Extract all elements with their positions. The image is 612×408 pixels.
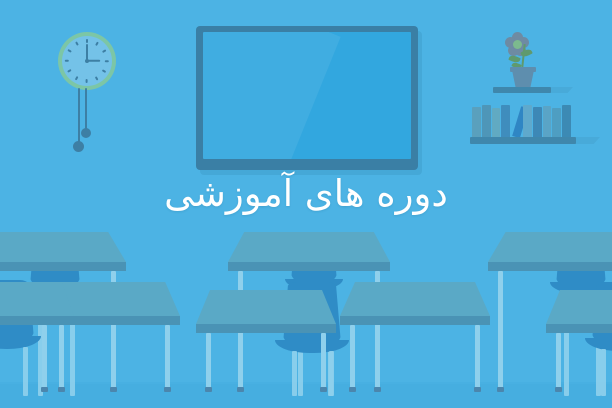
desk-leg-foot [110, 387, 117, 392]
pendulum-rod-a [85, 88, 87, 130]
desk-top [228, 232, 390, 262]
desk-top [546, 290, 612, 324]
floor [0, 384, 612, 408]
pendulum-rod-b [78, 88, 80, 144]
desk-leg-foot [555, 387, 562, 392]
desk-leg [556, 333, 561, 392]
pendulum-bob-a [81, 128, 91, 138]
desk-top [0, 282, 74, 316]
chair-leg [23, 347, 28, 396]
book [533, 107, 542, 137]
desk-leg-foot [41, 387, 48, 392]
book-row [470, 104, 576, 137]
book [552, 108, 561, 137]
desk-leg-foot [237, 387, 244, 392]
desk-top [488, 232, 612, 262]
desk-edge [228, 262, 390, 271]
desk-edge [488, 262, 612, 271]
desk-top [0, 232, 126, 262]
book [472, 107, 481, 137]
desk-leg [498, 271, 503, 392]
clock-face [62, 36, 112, 86]
classroom-scene: دوره های آموزشی [0, 0, 612, 408]
chair-leg [292, 351, 297, 396]
wall-clock [58, 32, 116, 90]
book [492, 108, 500, 137]
desk-edge [0, 316, 74, 325]
desk-leg [206, 333, 211, 392]
flower-center [513, 40, 522, 49]
clock-tick [86, 61, 88, 83]
chair-leg [601, 349, 606, 396]
desk-leg-foot [320, 387, 327, 392]
whiteboard-surface [203, 32, 411, 159]
desk-top [340, 282, 490, 316]
desk-leg-foot [164, 387, 171, 392]
desk-leg [59, 325, 64, 392]
desk-leg [165, 325, 170, 392]
desk-leg-foot [205, 387, 212, 392]
desk-edge [0, 262, 126, 271]
clock-center-pin [85, 59, 89, 63]
book [501, 105, 510, 137]
desk-leg-foot [58, 387, 65, 392]
desk-leg-foot [374, 387, 381, 392]
whiteboard [196, 26, 418, 170]
page-title: دوره های آموزشی [0, 170, 612, 218]
flower-pot [512, 70, 534, 87]
top-shelf [493, 87, 551, 93]
desk-edge [340, 316, 490, 325]
chair-seat [275, 340, 348, 354]
desk-leg [42, 325, 47, 392]
book [482, 105, 491, 137]
desk-edge [546, 324, 612, 333]
desk-leg-foot [474, 387, 481, 392]
desk-leg [475, 325, 480, 392]
desk-leg [321, 333, 326, 392]
desk-leg-foot [497, 387, 504, 392]
desk-edge [196, 324, 336, 333]
pendulum-bob-b [73, 141, 84, 152]
book [523, 105, 532, 137]
book [562, 105, 571, 137]
desk-leg [350, 325, 355, 392]
book [543, 106, 551, 137]
desk-leg-foot [349, 387, 356, 392]
whiteboard-glare [203, 32, 341, 159]
bottom-shelf [470, 137, 576, 144]
chair-leg [329, 351, 334, 396]
desk-top [196, 290, 336, 324]
chair-seat [0, 336, 41, 349]
